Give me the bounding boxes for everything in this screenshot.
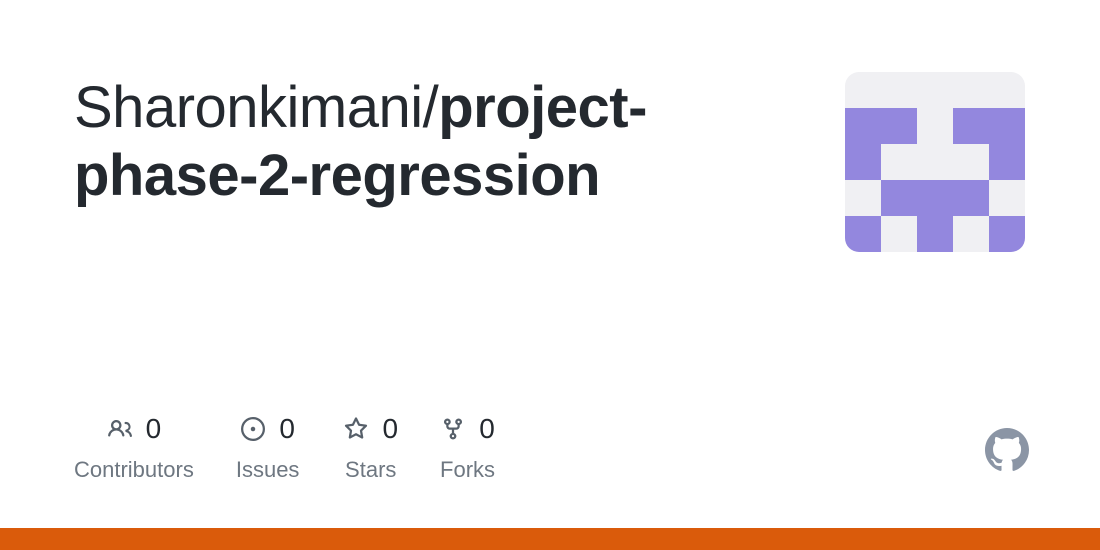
stat-forks: 0 Forks [440, 412, 495, 483]
identicon-cell-3-2 [917, 180, 953, 216]
stat-contributors-count: 0 [146, 414, 162, 444]
repository-owner: Sharonkimani/ [74, 75, 438, 140]
identicon-cell-1-4 [989, 108, 1025, 144]
stat-forks-label: Forks [440, 457, 495, 483]
identicon-cell-2-2 [917, 144, 953, 180]
identicon-cell-0-1 [881, 72, 917, 108]
identicon-cell-2-4 [989, 144, 1025, 180]
stat-contributors-label: Contributors [74, 457, 194, 483]
identicon-cell-1-3 [953, 108, 989, 144]
stat-stars-count: 0 [382, 414, 398, 444]
stat-issues-top: 0 [240, 412, 295, 446]
issue-opened-icon [240, 416, 266, 442]
stat-issues-count: 0 [279, 414, 295, 444]
stat-forks-top: 0 [440, 412, 495, 446]
identicon-cell-0-2 [917, 72, 953, 108]
identicon-cell-4-1 [881, 216, 917, 252]
identicon-cell-3-4 [989, 180, 1025, 216]
identicon-cell-4-0 [845, 216, 881, 252]
stat-stars-label: Stars [345, 457, 396, 483]
identicon-cell-3-0 [845, 180, 881, 216]
identicon-grid [845, 72, 1025, 252]
language-bar [0, 528, 1100, 550]
card-header: Sharonkimani/project-phase-2-regression [0, 0, 1100, 300]
identicon-cell-3-3 [953, 180, 989, 216]
stat-contributors: 0 Contributors [74, 412, 194, 483]
identicon-cell-4-3 [953, 216, 989, 252]
repository-stats: 0 Contributors 0 Issues [74, 412, 495, 492]
identicon-cell-1-0 [845, 108, 881, 144]
stat-contributors-top: 0 [107, 412, 162, 446]
people-icon [107, 416, 133, 442]
owner-avatar-identicon [845, 72, 1025, 252]
identicon-cell-0-0 [845, 72, 881, 108]
stat-issues: 0 Issues [236, 412, 300, 483]
identicon-cell-2-0 [845, 144, 881, 180]
repository-social-preview-card: Sharonkimani/project-phase-2-regression … [0, 0, 1100, 550]
repository-title: Sharonkimani/project-phase-2-regression [74, 74, 714, 210]
identicon-cell-4-2 [917, 216, 953, 252]
stat-stars: 0 Stars [343, 412, 398, 483]
star-icon [343, 416, 369, 442]
identicon-cell-3-1 [881, 180, 917, 216]
repo-forked-icon [440, 416, 466, 442]
stat-stars-top: 0 [343, 412, 398, 446]
identicon-cell-0-4 [989, 72, 1025, 108]
identicon-cell-4-4 [989, 216, 1025, 252]
identicon-cell-0-3 [953, 72, 989, 108]
identicon-cell-2-3 [953, 144, 989, 180]
identicon-cell-1-1 [881, 108, 917, 144]
stat-forks-count: 0 [479, 414, 495, 444]
stat-issues-label: Issues [236, 457, 300, 483]
language-segment [0, 528, 1100, 550]
identicon-cell-2-1 [881, 144, 917, 180]
identicon-cell-1-2 [917, 108, 953, 144]
github-mark-icon [985, 428, 1029, 472]
